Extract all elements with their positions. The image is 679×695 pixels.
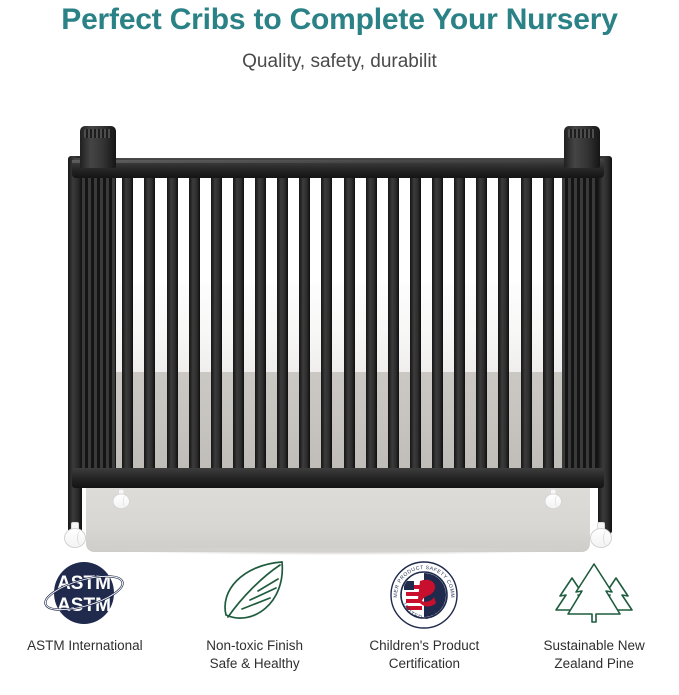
badge-label: Non-toxic Finish Safe & Healthy [206, 637, 303, 673]
cpsc-seal-icon: CONSUMER PRODUCT SAFETY COMMISSION UNITE… [386, 556, 462, 632]
crib-slat [211, 172, 222, 472]
caster-wheel-icon [545, 494, 562, 510]
certification-badge-row: ASTM ASTM ASTM International Non-toxic F… [0, 556, 679, 695]
crib-slat [410, 172, 421, 472]
caster-wheel-icon [64, 528, 86, 548]
crib-slat [344, 172, 355, 472]
crib-slat [476, 172, 487, 472]
astm-globe-icon: ASTM ASTM [37, 556, 133, 632]
badge-childrens-product-certification: CONSUMER PRODUCT SAFETY COMMISSION UNITE… [340, 556, 510, 695]
crib-top-rail [72, 158, 604, 178]
crib-caster-front-left [64, 522, 88, 548]
badge-non-toxic-finish: Non-toxic Finish Safe & Healthy [170, 556, 340, 695]
crib-slats [78, 172, 598, 472]
crib-caster-front-right [590, 522, 614, 548]
crib-slat [454, 172, 465, 472]
crib-fluted-panel-right [562, 172, 602, 472]
badge-sustainable-new-zealand-pine: Sustainable New Zealand Pine [509, 556, 679, 695]
crib-slat [366, 172, 377, 472]
badge-label: ASTM International [27, 637, 143, 655]
crib-bottom-rail [72, 468, 604, 488]
crib-slat [432, 172, 443, 472]
page-subtitle: Quality, safety, durabilit [0, 49, 679, 75]
crib-illustration [62, 114, 618, 534]
crib-finial-right [564, 126, 600, 168]
crib-slat [321, 172, 332, 472]
crib-slat [233, 172, 244, 472]
crib-fluted-panel-left [76, 172, 116, 472]
crib-finial-left [80, 126, 116, 168]
crib-slat [543, 172, 554, 472]
crib-slat [167, 172, 178, 472]
product-image-stage [0, 100, 679, 550]
crib-caster-back-left [113, 489, 132, 509]
page-title: Perfect Cribs to Complete Your Nursery [0, 1, 679, 39]
header-block: Perfect Cribs to Complete Your Nursery Q… [0, 0, 679, 75]
crib-slat [144, 172, 155, 472]
crib-slat [498, 172, 509, 472]
leaf-icon [212, 556, 298, 632]
crib-slat [277, 172, 288, 472]
crib-skirt [86, 486, 590, 552]
badge-astm-international: ASTM ASTM ASTM International [0, 556, 170, 695]
crib-slat [299, 172, 310, 472]
crib-slat [122, 172, 133, 472]
crib-slat [189, 172, 200, 472]
crib-slat [255, 172, 266, 472]
crib-caster-back-right [545, 489, 564, 509]
crib-slat [388, 172, 399, 472]
caster-wheel-icon [590, 528, 612, 548]
badge-label: Sustainable New Zealand Pine [543, 637, 644, 673]
pine-trees-icon [548, 556, 640, 632]
caster-wheel-icon [113, 494, 130, 510]
crib-slat [521, 172, 532, 472]
badge-label: Children's Product Certification [369, 637, 479, 673]
